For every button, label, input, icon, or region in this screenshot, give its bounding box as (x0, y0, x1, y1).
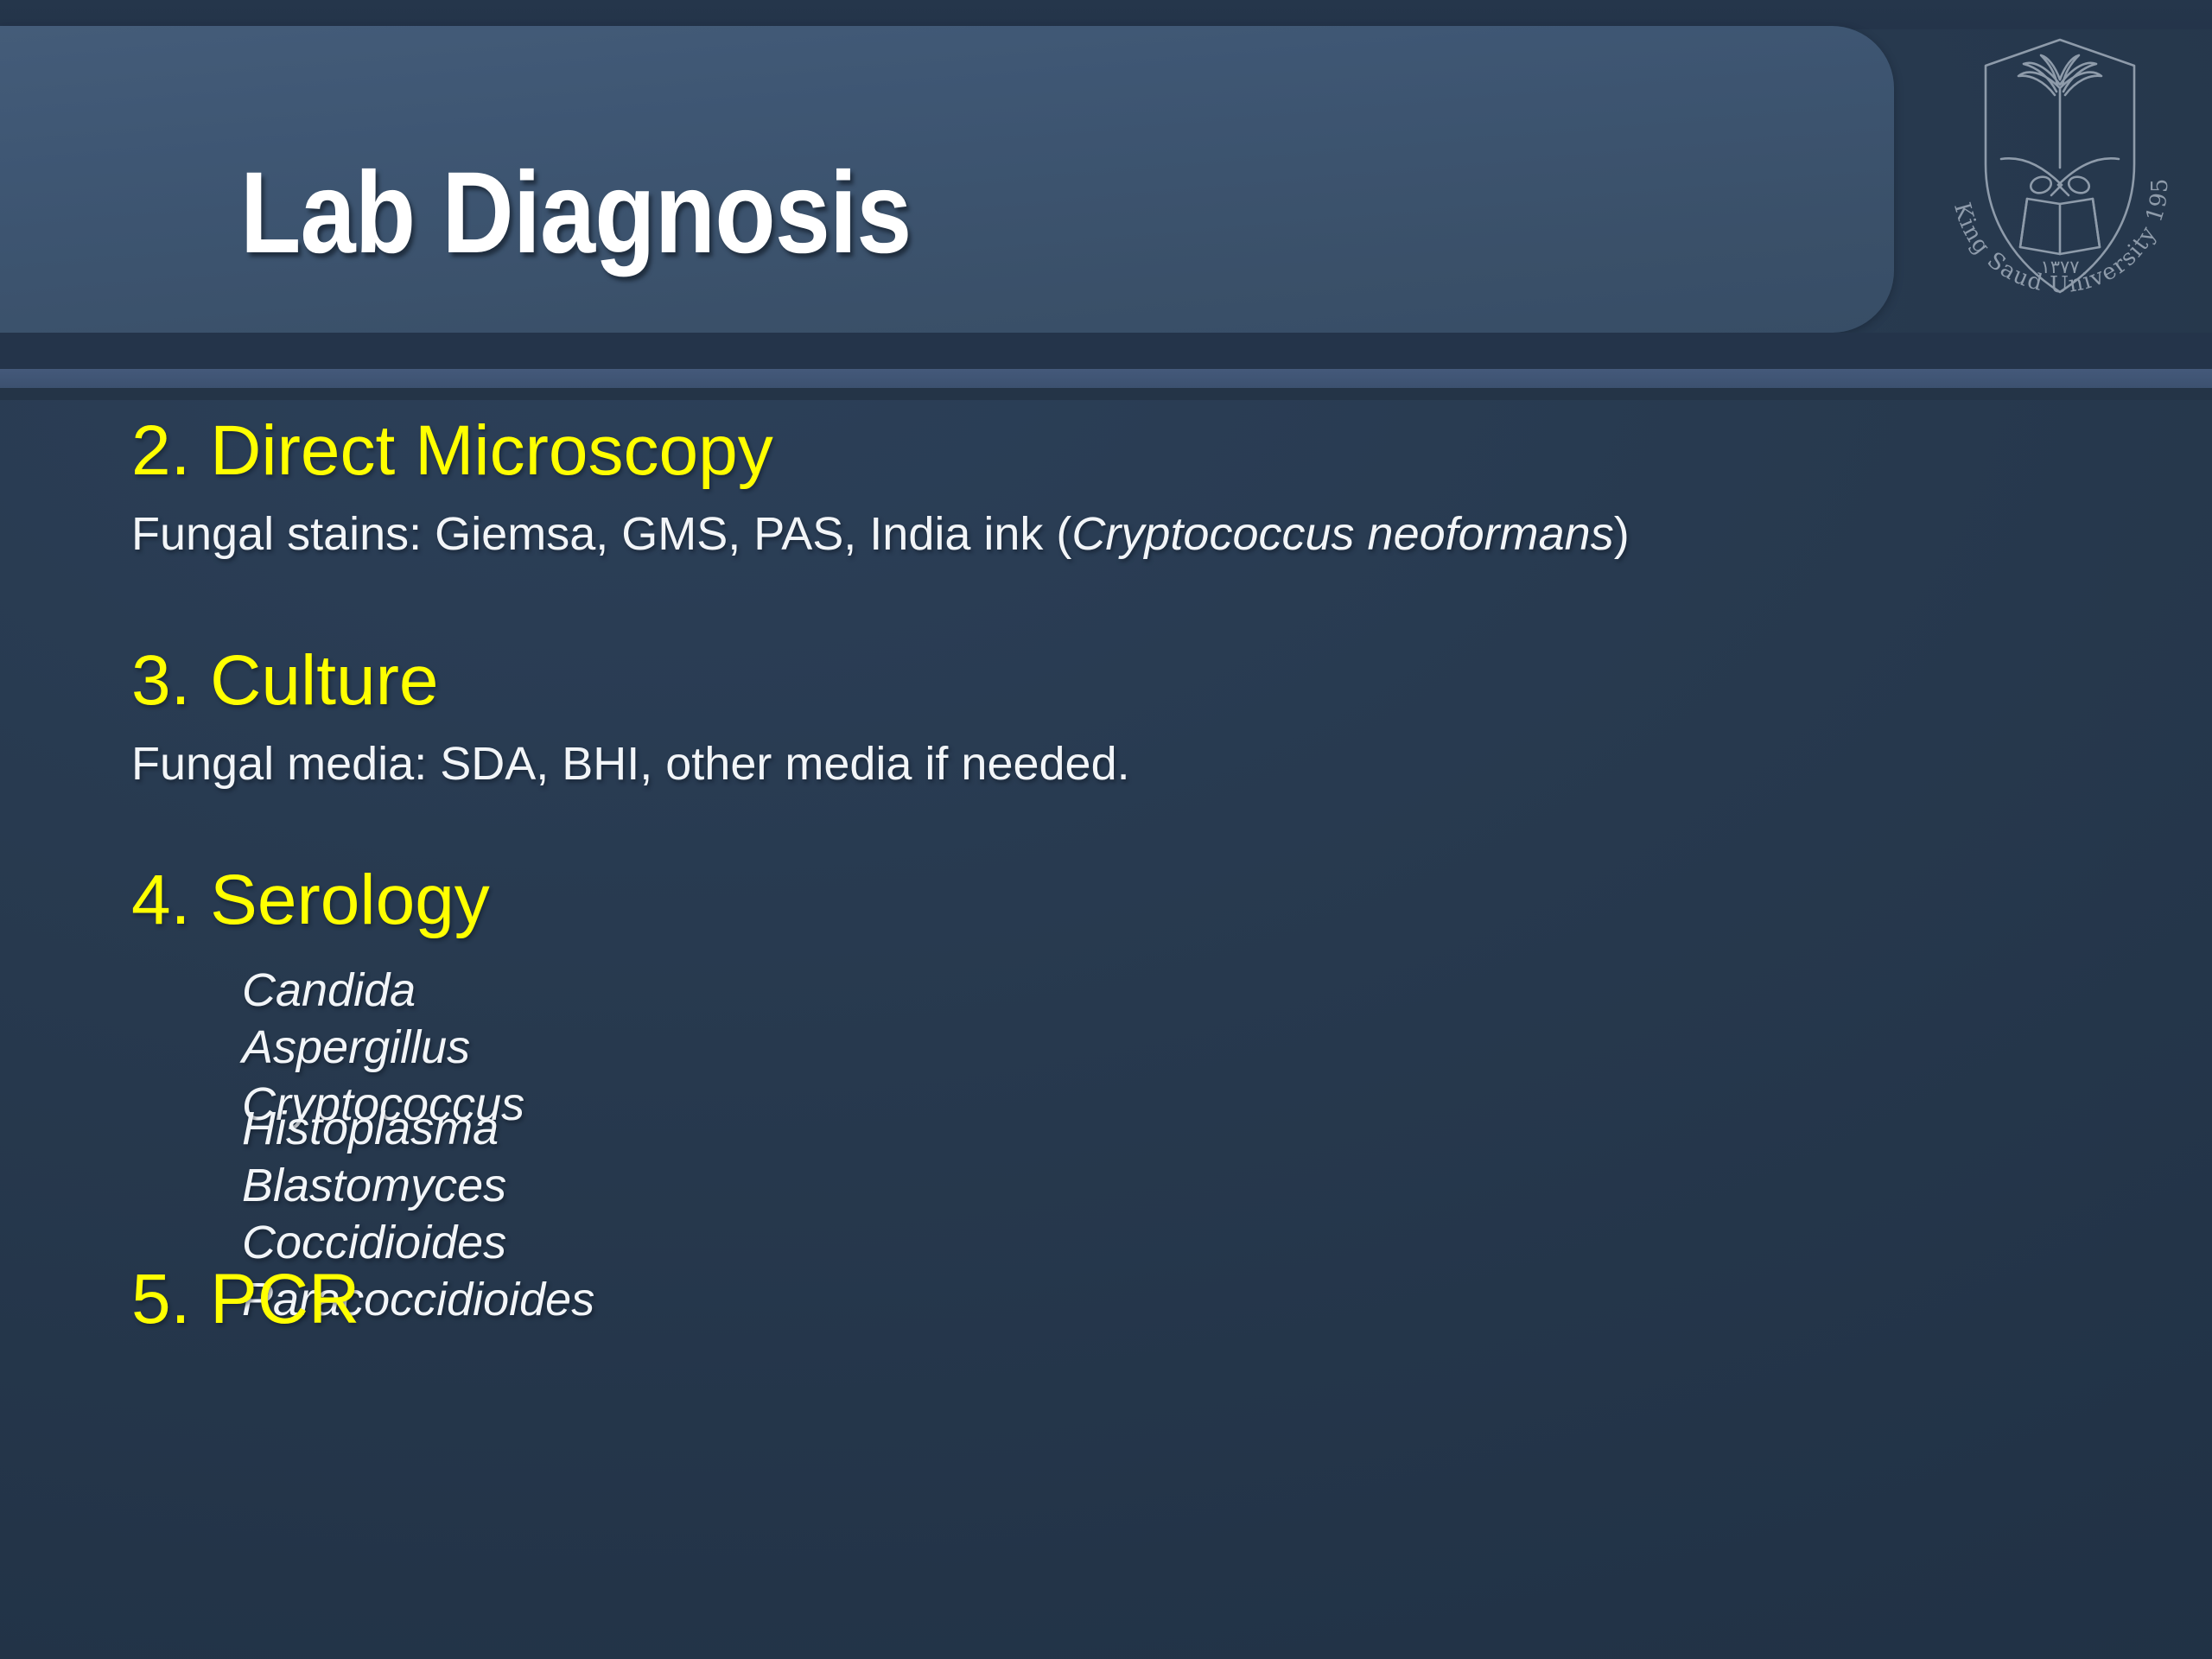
logo-latin-name: King Saud University 1957 (1934, 16, 2173, 298)
section-heading-pcr: 5. PCR (131, 1264, 359, 1335)
section-heading-culture: 3. Culture (131, 645, 439, 716)
slide: Lab Diagnosis (0, 0, 2212, 1659)
header-divider-light (0, 369, 2212, 388)
king-saud-university-logo-icon: ١٣٧٧ King Saud University 1957 (1934, 16, 2186, 323)
section-subline-direct-microscopy: Fungal stains: Giemsa, GMS, PAS, India i… (131, 511, 1630, 557)
header-top-strip (0, 0, 2212, 29)
subline-text-before: Fungal stains: Giemsa, GMS, PAS, India i… (131, 508, 1071, 560)
section-heading-serology: 4. Serology (131, 865, 490, 936)
list-item: Blastomyces (242, 1157, 594, 1214)
section-heading-direct-microscopy: 2. Direct Microscopy (131, 416, 773, 486)
list-item: Candida (242, 962, 524, 1019)
page-title: Lab Diagnosis (240, 156, 911, 271)
header-divider-dark (0, 333, 2212, 369)
slide-body: 2. Direct Microscopy Fungal stains: Giem… (0, 400, 2212, 1659)
subline-text-after: ) (1614, 508, 1630, 560)
species-name-cryptococcus-neoformans: Cryptococcus neoformans (1071, 508, 1613, 560)
section-subline-culture: Fungal media: SDA, BHI, other media if n… (131, 741, 1130, 787)
list-item: Histoplasma (242, 1100, 594, 1157)
header-divider-bottom (0, 388, 2212, 400)
list-item: Aspergillus (242, 1019, 524, 1076)
